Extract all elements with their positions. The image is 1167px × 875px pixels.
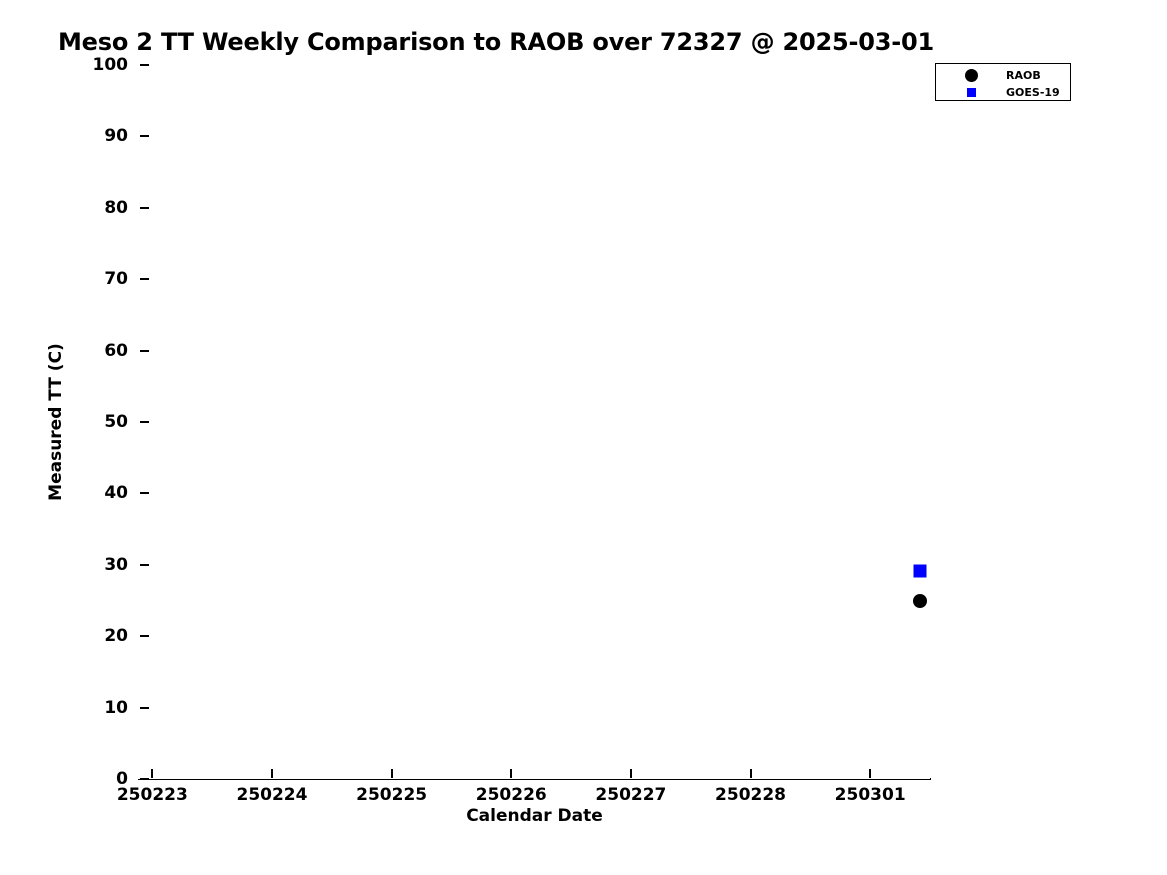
legend-label: RAOB	[1006, 69, 1041, 82]
y-axis-tick-label: 10	[104, 698, 128, 718]
legend: RAOB GOES-19	[935, 63, 1071, 101]
y-axis-tick-label: 90	[104, 126, 128, 146]
x-axis-tick	[750, 769, 752, 778]
x-axis-tick-label: 250223	[117, 785, 188, 805]
x-axis-tick	[391, 769, 393, 778]
page-title: Meso 2 TT Weekly Comparison to RAOB over…	[58, 28, 934, 56]
legend-entry-raob: RAOB	[936, 66, 1070, 84]
y-axis-tick	[140, 778, 149, 780]
y-axis-tick-label: 80	[104, 198, 128, 218]
y-axis-tick	[140, 64, 149, 66]
y-axis-tick	[140, 135, 149, 137]
x-axis-tick-label: 250301	[835, 785, 906, 805]
legend-label: GOES-19	[1006, 86, 1060, 99]
y-axis-tick	[140, 635, 149, 637]
x-axis-tick	[510, 769, 512, 778]
circle-marker-icon	[965, 69, 978, 82]
y-axis-title: Measured TT (C)	[46, 343, 66, 501]
x-axis-tick-label: 250228	[715, 785, 786, 805]
square-marker-icon	[967, 88, 976, 97]
x-axis-tick-label: 250227	[595, 785, 666, 805]
x-axis-tick-label: 250226	[476, 785, 547, 805]
legend-entry-goes19: GOES-19	[936, 83, 1070, 101]
data-point-goes-19	[914, 565, 927, 578]
y-axis-tick	[140, 207, 149, 209]
y-axis-tick	[140, 350, 149, 352]
x-axis-tick	[151, 769, 153, 778]
y-axis-tick	[140, 492, 149, 494]
x-axis-title: Calendar Date	[0, 806, 1069, 826]
x-axis-tick	[630, 769, 632, 778]
y-axis-tick-label: 40	[104, 483, 128, 503]
y-axis-tick-label: 20	[104, 626, 128, 646]
plot-area	[138, 65, 930, 779]
y-axis-tick-label: 70	[104, 269, 128, 289]
legend-marker-cell	[936, 88, 1006, 97]
y-axis-tick	[140, 707, 149, 709]
y-axis-tick	[140, 278, 149, 280]
chart-figure: Meso 2 TT Weekly Comparison to RAOB over…	[0, 0, 1167, 875]
y-axis-tick-label: 30	[104, 555, 128, 575]
x-axis-tick	[869, 769, 871, 778]
x-axis-tick-label: 250224	[236, 785, 307, 805]
x-axis-tick	[271, 769, 273, 778]
y-axis-tick	[140, 421, 149, 423]
y-axis-tick-label: 60	[104, 341, 128, 361]
data-point-raob	[913, 594, 927, 608]
y-axis-tick-label: 50	[104, 412, 128, 432]
legend-marker-cell	[936, 69, 1006, 82]
y-axis-tick-label: 100	[93, 55, 129, 75]
x-axis-tick-label: 250225	[356, 785, 427, 805]
y-axis-tick	[140, 564, 149, 566]
